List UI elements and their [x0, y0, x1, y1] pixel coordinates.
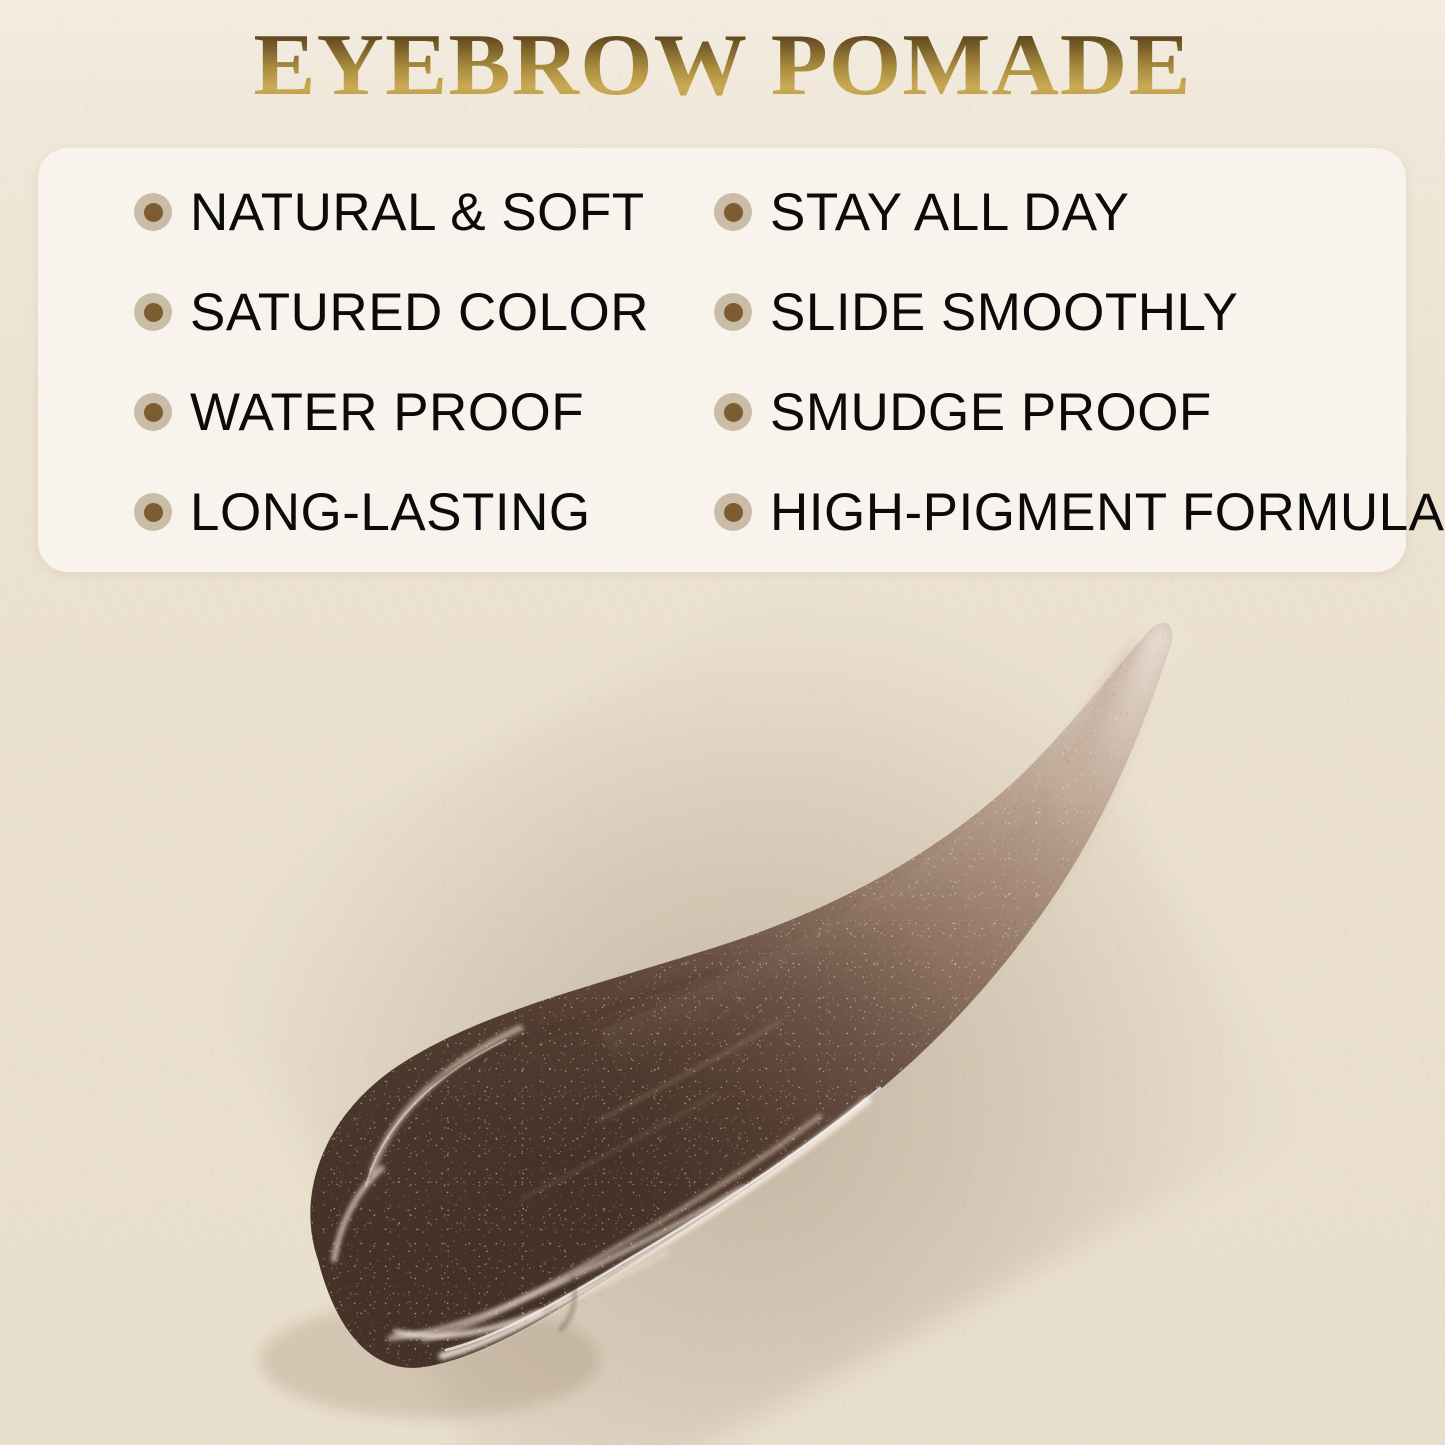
- feature-label: SMUDGE PROOF: [770, 386, 1212, 439]
- product-feature-banner: EYEBROW POMADE NATURAL & SOFT STAY ALL D…: [0, 0, 1445, 1445]
- feature-item: STAY ALL DAY: [702, 186, 1406, 239]
- feature-label: SATURED COLOR: [190, 286, 649, 339]
- feature-label: LONG-LASTING: [190, 486, 591, 539]
- feature-label: WATER PROOF: [190, 386, 584, 439]
- feature-item: HIGH-PIGMENT FORMULA: [702, 486, 1406, 539]
- feature-item: SATURED COLOR: [38, 286, 702, 339]
- feature-label: NATURAL & SOFT: [190, 186, 645, 239]
- page-title: EYEBROW POMADE: [0, 22, 1445, 110]
- feature-item: NATURAL & SOFT: [38, 186, 702, 239]
- bullet-dot-icon: [134, 393, 172, 431]
- bullet-dot-icon: [134, 493, 172, 531]
- features-card: NATURAL & SOFT STAY ALL DAY SATURED COLO…: [38, 148, 1406, 572]
- bullet-dot-icon: [714, 393, 752, 431]
- feature-item: SMUDGE PROOF: [702, 386, 1406, 439]
- bullet-dot-icon: [714, 293, 752, 331]
- pomade-swatch-body: [0, 560, 1445, 1445]
- feature-item: LONG-LASTING: [38, 486, 702, 539]
- feature-label: SLIDE SMOOTHLY: [770, 286, 1238, 339]
- bullet-dot-icon: [714, 493, 752, 531]
- feature-label: STAY ALL DAY: [770, 186, 1130, 239]
- feature-item: SLIDE SMOOTHLY: [702, 286, 1406, 339]
- bullet-dot-icon: [714, 193, 752, 231]
- feature-label: HIGH-PIGMENT FORMULA: [770, 486, 1445, 539]
- bullet-dot-icon: [134, 293, 172, 331]
- pomade-swatch-graphic: [0, 560, 1445, 1445]
- features-grid: NATURAL & SOFT STAY ALL DAY SATURED COLO…: [38, 148, 1406, 572]
- feature-item: WATER PROOF: [38, 386, 702, 439]
- pomade-swatch: [0, 560, 1445, 1445]
- bullet-dot-icon: [134, 193, 172, 231]
